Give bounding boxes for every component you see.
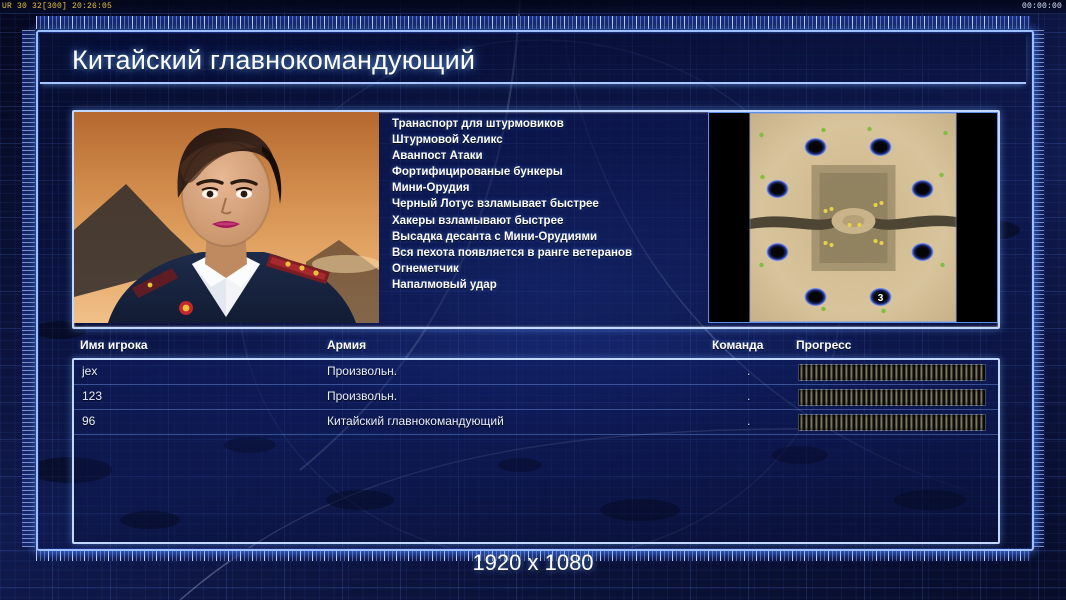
players-table-header: Имя игрока Армия Команда Прогресс: [72, 338, 996, 356]
page-title: Китайский главнокомандующий: [72, 45, 475, 76]
feature-item: Огнеметчик: [392, 261, 692, 277]
table-row[interactable]: jex Произвольн. .: [74, 360, 998, 385]
system-topbar: UR 30 32[300] 20:26:05 00:00:00: [0, 0, 1066, 14]
minimap-position-label: 3: [878, 293, 884, 304]
minimap-container[interactable]: 3: [708, 112, 998, 323]
player-name: jex: [82, 364, 97, 378]
ruler-left: [22, 30, 35, 547]
player-progress-bar: [798, 364, 986, 381]
player-army[interactable]: Произвольн.: [327, 389, 397, 403]
feature-item: Высадка десанта с Мини-Орудиями: [392, 229, 692, 245]
feature-item: Штурмовой Хеликс: [392, 132, 692, 148]
player-team[interactable]: .: [747, 389, 750, 403]
feature-item: Фортифицированые бункеры: [392, 164, 692, 180]
player-team[interactable]: .: [747, 414, 750, 428]
table-row[interactable]: 96 Китайский главнокомандующий .: [74, 410, 998, 435]
column-header-name: Имя игрока: [80, 338, 148, 352]
faction-feature-list: Транаспорт для штурмовиков Штурмовой Хел…: [392, 116, 692, 316]
player-name: 96: [82, 414, 95, 428]
player-progress-bar: [798, 414, 986, 431]
feature-item: Мини-Орудия: [392, 180, 692, 196]
ruler-top: [36, 16, 1030, 29]
commander-portrait: [74, 112, 379, 323]
player-army[interactable]: Китайский главнокомандующий: [327, 414, 504, 428]
column-header-army: Армия: [327, 338, 366, 352]
feature-item: Черный Лотус взламывает быстрее: [392, 196, 692, 212]
feature-item: Транаспорт для штурмовиков: [392, 116, 692, 132]
faction-info-panel: Транаспорт для штурмовиков Штурмовой Хел…: [72, 110, 1000, 329]
resolution-label: 1920 x 1080: [0, 550, 1066, 576]
column-header-team: Команда: [712, 338, 763, 352]
feature-item: Аванпост Атаки: [392, 148, 692, 164]
feature-item: Хакеры взламывают быстрее: [392, 213, 692, 229]
feature-item: Вся пехота появляется в ранге ветеранов: [392, 245, 692, 261]
table-row[interactable]: 123 Произвольн. .: [74, 385, 998, 410]
minimap-preview[interactable]: 3: [750, 113, 957, 322]
column-header-progress: Прогресс: [796, 338, 851, 352]
player-name: 123: [82, 389, 102, 403]
players-list: jex Произвольн. . 123 Произвольн. . 96 К…: [72, 358, 1000, 544]
player-progress-bar: [798, 389, 986, 406]
topbar-status-text: UR 30 32[300] 20:26:05: [2, 1, 112, 12]
player-team[interactable]: .: [747, 364, 750, 378]
feature-item: Напалмовый удар: [392, 277, 692, 293]
topbar-timer: 00:00:00: [1022, 1, 1062, 12]
player-army[interactable]: Произвольн.: [327, 364, 397, 378]
